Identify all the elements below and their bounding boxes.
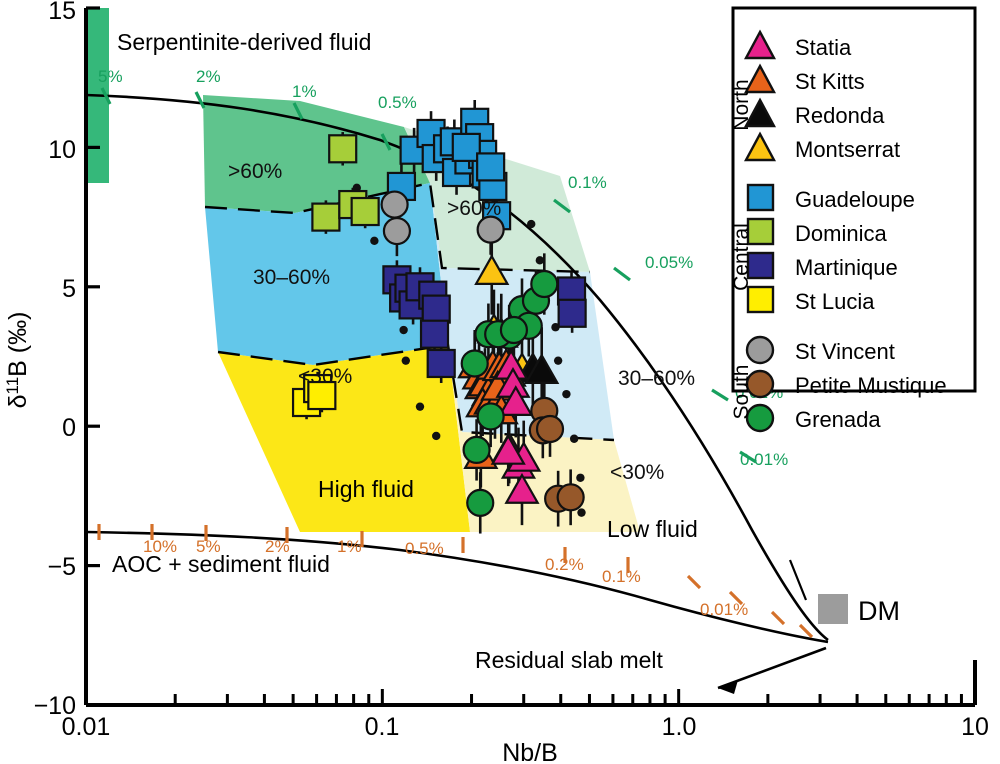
data-point-marker [537,416,563,442]
annotation-serpentinite: Serpentinite-derived fluid [117,29,371,55]
mixing-dot [527,220,535,228]
mixing-dot [570,435,578,443]
data-point-marker [329,135,356,162]
legend-item-st-vincent[interactable]: St Vincent [747,337,895,364]
data-point-marker [478,217,504,243]
y-tick-label: 0 [62,414,76,442]
green-tick-label: 0.05% [645,253,693,272]
data-point-marker [467,490,493,516]
legend-label: Martinique [795,255,898,280]
legend-label: St Lucia [795,289,875,314]
x-tick-label: 0.01 [62,713,111,741]
y-tick-label: −5 [47,553,76,581]
mixing-dot [536,256,544,264]
y-tick-label: 10 [48,136,76,164]
legend-label: Guadeloupe [795,187,915,212]
data-point-marker [382,192,408,218]
data-point-marker [464,437,490,463]
data-point-marker [478,403,504,429]
legend-label: Dominica [795,221,887,246]
x-tick-label: 1.0 [662,713,697,741]
legend[interactable]: StatiaSt KittsRedondaMontserratNorthGuad… [730,8,975,432]
mixing-dot [402,356,410,364]
data-point-marker [312,204,339,231]
mixing-dot [554,356,562,364]
orange-tick-label: 0.1% [602,567,641,586]
legend-group-label: North [730,79,753,130]
annotation-gt60-right: >60% [447,197,501,220]
annotation-lt30-right: <30% [610,461,664,484]
legend-label: Montserrat [795,137,900,162]
green-tick-label: 0.01% [740,450,788,469]
legend-item-dominica[interactable]: Dominica [748,219,887,246]
legend-group-label: South [730,365,753,420]
legend-label: Petite Mustique [795,373,947,398]
legend-item-st-lucia[interactable]: St Lucia [748,287,875,314]
data-point-marker [477,153,504,180]
boron-isotope-scatter-plot: 15 10 5 0 −5 −10 0.01 0.1 1.0 10 Nb/B δ1… [0,0,1000,764]
orange-tick-label: 0.5% [405,539,444,558]
data-point-marker [423,296,450,323]
data-point-marker [531,271,557,297]
orange-tick-label: 0.2% [545,555,584,574]
mixing-dot [577,508,585,516]
mixing-dot [399,326,407,334]
dm-marker [818,594,848,624]
annotation-low-fluid: Low fluid [607,516,698,542]
x-axis-title: Nb/B [502,739,558,764]
data-point-marker [453,134,480,161]
x-tick-label: 10 [961,713,989,741]
legend-label: St Vincent [795,339,895,364]
annotation-lt30-left: <30% [298,365,352,388]
legend-swatch [747,337,773,363]
green-tick-label: 5% [98,67,123,86]
mixing-dot [432,432,440,440]
data-point-marker [559,300,586,327]
data-point-marker [428,350,455,377]
x-tick-label: 0.1 [365,713,400,741]
legend-label: Redonda [795,103,885,128]
annotation-gt60-left: >60% [228,160,282,183]
legend-label: St Kitts [795,69,865,94]
annotation-residual: Residual slab melt [475,647,664,673]
data-point-marker [352,198,379,225]
data-point-marker [501,317,527,343]
annotation-high-fluid: High fluid [318,476,414,502]
orange-tick-label: 5% [196,537,221,556]
legend-item-guadeloupe[interactable]: Guadeloupe [748,185,915,212]
annotation-mid-right: 30–60% [618,367,695,390]
green-tick-label: 2% [196,67,221,86]
mixing-dot [370,237,378,245]
data-point-marker [421,321,448,348]
orange-tick-label: 2% [265,537,290,556]
annotation-mid-left: 30–60% [253,266,330,289]
orange-tick-label: 10% [143,537,177,556]
y-tick-label: 15 [48,0,76,25]
data-point-marker [462,350,488,376]
legend-group-label: Central [730,223,753,291]
legend-item-grenada[interactable]: Grenada [747,405,881,432]
legend-item-martinique[interactable]: Martinique [748,253,898,280]
legend-item-statia[interactable]: Statia [746,32,852,60]
legend-label: Statia [795,35,852,60]
data-point-marker [558,484,584,510]
green-tick-label: 1% [292,82,317,101]
legend-swatch [748,185,773,210]
y-tick-label: 5 [62,275,76,303]
legend-label: Grenada [795,407,881,432]
mixing-dot [576,474,584,482]
annotation-dm: DM [858,596,900,626]
mixing-dot [562,390,570,398]
orange-tick-label: 1% [337,537,362,556]
green-tick-label: 0.1% [568,173,607,192]
green-tick-label: 0.5% [378,93,417,112]
mixing-dot [416,402,424,410]
data-point-marker [384,218,410,244]
orange-tick-label: 0.01% [700,600,748,619]
